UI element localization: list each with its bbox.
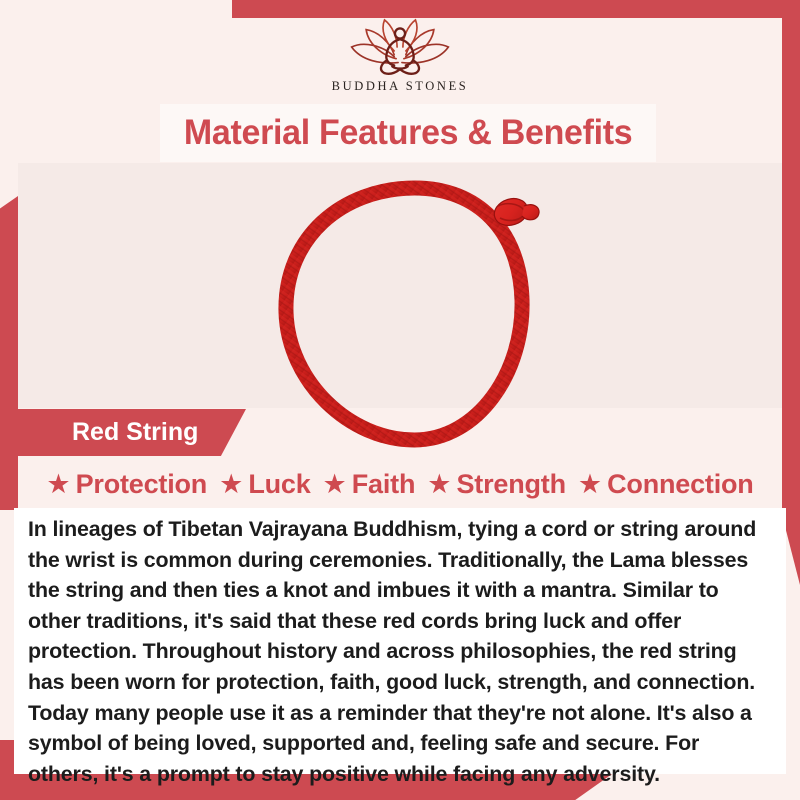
page-title: Material Features & Benefits [184,113,632,153]
benefit-item-strength: ★ Strength [427,469,566,500]
product-tag-label: Red String [72,418,198,447]
description-text: In lineages of Tibetan Vajrayana Buddhis… [28,514,772,789]
star-icon: ★ [219,471,243,498]
star-icon: ★ [578,471,602,498]
brand-logo: BUDDHA STONES [0,18,800,104]
benefit-item-protection: ★ Protection [46,469,207,500]
lotus-meditation-icon [334,18,466,78]
benefit-item-faith: ★ Faith [323,469,416,500]
benefit-item-connection: ★ Connection [578,469,754,500]
description-panel: In lineages of Tibetan Vajrayana Buddhis… [14,508,786,774]
brand-name: BUDDHA STONES [332,79,469,94]
benefit-label: Strength [456,469,565,500]
red-string-bracelet-image [272,172,558,462]
top-red-bar [232,0,800,18]
bottom-left-red-bar [0,740,14,800]
star-icon: ★ [46,471,70,498]
star-icon: ★ [427,471,451,498]
product-tag: Red String [18,409,246,456]
benefits-row: ★ Protection ★ Luck ★ Faith ★ Strength ★… [0,462,800,506]
benefit-label: Faith [352,469,416,500]
benefit-item-luck: ★ Luck [219,469,310,500]
benefit-label: Connection [607,469,754,500]
benefit-label: Luck [248,469,310,500]
infographic-page: BUDDHA STONES Material Features & Benefi… [0,0,800,800]
title-band: Material Features & Benefits [160,104,656,162]
star-icon: ★ [323,471,347,498]
benefit-label: Protection [76,469,208,500]
